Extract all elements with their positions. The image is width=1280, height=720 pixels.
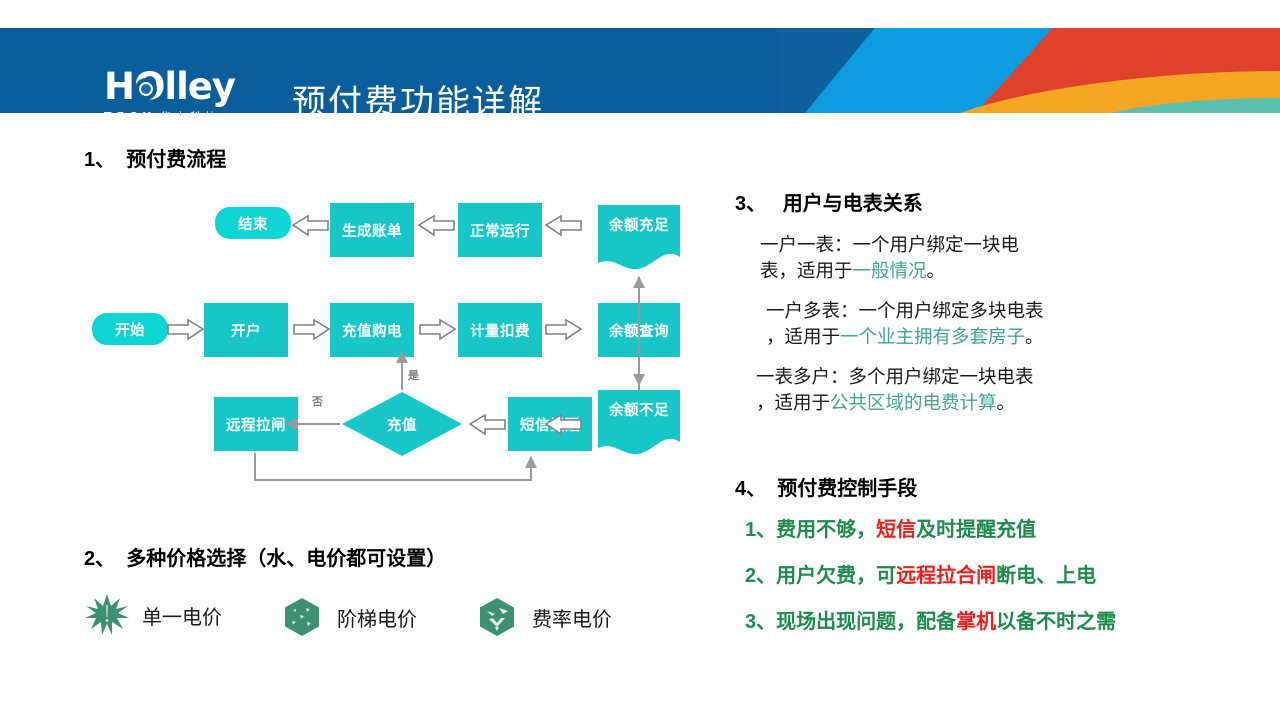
hexagon-steps-icon (279, 594, 325, 640)
relation-2-highlight: 一个业主拥有多套房子 (840, 326, 1025, 347)
relation-1-mid: 表，适用于 (760, 260, 853, 281)
section-4-title: 预付费控制手段 (777, 478, 917, 500)
relation-3-head: 一表多户：多个用户绑定一块电表 (756, 366, 1034, 387)
control-3-highlight: 掌机 (956, 611, 996, 633)
logo-subtitle: TECH 华立科技 (104, 109, 264, 113)
page-title: 预付费功能详解 (292, 75, 544, 113)
holley-logo: HOlley TECH 华立科技 (104, 68, 264, 113)
section-2-number: 2、 (84, 548, 115, 570)
logo-tech-text: TECH (104, 110, 156, 113)
control-1-highlight: 短信 (876, 519, 916, 541)
control-2-highlight: 远程拉合闸 (896, 565, 996, 587)
section-4-heading: 4、 预付费控制手段 (735, 472, 917, 501)
control-item-3: 3、现场出现问题，配备掌机以备不时之需 (745, 610, 1215, 634)
flow-node-recharge-decision-label: 充值 (342, 392, 462, 456)
user-meter-relations-list: 一户一表：一个用户绑定一块电 表，适用于一般情况。 一户多表：一个用户绑定多块电… (760, 232, 1210, 430)
logo-chinese-text: 华立科技 (160, 109, 220, 113)
control-item-1: 1、费用不够，短信及时提醒充值 (745, 518, 1215, 542)
relation-3-highlight: 公共区域的电费计算 (830, 392, 997, 413)
flow-node-balance-insufficient[interactable]: 余额不足 (598, 390, 680, 454)
relation-2-mid: ，适用于 (766, 326, 840, 347)
logo-wordmark: HOlley (104, 68, 264, 106)
flow-node-balance-sufficient[interactable]: 余额充足 (598, 205, 680, 269)
section-3-title: 用户与电表关系 (783, 193, 923, 215)
control-2-text-a: 用户欠费，可 (776, 565, 896, 587)
header-decorative-swoosh (780, 28, 1280, 113)
relation-item-many-to-one: 一表多户：多个用户绑定一块电表 ，适用于公共区域的电费计算。 (756, 364, 1210, 416)
price-option-rate[interactable]: 费率电价 (474, 594, 612, 640)
control-2-number: 2、 (745, 565, 776, 587)
hexagon-rate-icon (474, 594, 520, 640)
control-2-text-b: 断电、上电 (996, 565, 1096, 587)
price-option-tiered-label: 阶梯电价 (337, 603, 417, 632)
starburst-icon (84, 592, 130, 638)
relation-1-tail: 。 (927, 260, 946, 281)
relation-3-mid: ，适用于 (756, 392, 830, 413)
control-3-number: 3、 (745, 611, 776, 633)
price-options-row: 单一电价 阶梯电价 费率电价 (84, 592, 684, 652)
relation-item-one-to-many: 一户多表：一个用户绑定多块电表 ，适用于一个业主拥有多套房子。 (766, 298, 1210, 350)
control-3-text-b: 以备不时之需 (996, 611, 1116, 633)
section-4-number: 4、 (735, 478, 766, 500)
price-option-single-label: 单一电价 (142, 601, 222, 630)
section-2-title: 多种价格选择（水、电价都可设置） (126, 548, 446, 570)
section-2-heading: 2、 多种价格选择（水、电价都可设置） (84, 542, 446, 571)
price-option-single[interactable]: 单一电价 (84, 592, 222, 638)
header-band: HOlley TECH 华立科技 预付费功能详解 (0, 28, 1280, 113)
flow-node-recharge-decision[interactable]: 充值 (342, 392, 462, 456)
control-1-text-a: 费用不够， (776, 519, 876, 541)
section-1-title: 预付费流程 (126, 149, 226, 171)
control-item-2: 2、用户欠费，可远程拉合闸断电、上电 (745, 564, 1215, 588)
relation-1-head: 一户一表：一个用户绑定一块电 (760, 234, 1019, 255)
section-1-heading: 1、 预付费流程 (84, 143, 226, 172)
section-3-number: 3、 (735, 193, 766, 215)
relation-2-tail: 。 (1025, 326, 1044, 347)
relation-2-head: 一户多表：一个用户绑定多块电表 (766, 300, 1044, 321)
relation-1-highlight: 一般情况 (853, 260, 927, 281)
relation-item-one-to-one: 一户一表：一个用户绑定一块电 表，适用于一般情况。 (760, 232, 1210, 284)
section-1-number: 1、 (84, 149, 115, 171)
section-3-heading: 3、 用户与电表关系 (735, 187, 923, 216)
prepaid-control-measures-list: 1、费用不够，短信及时提醒充值 2、用户欠费，可远程拉合闸断电、上电 3、现场出… (745, 518, 1215, 656)
prepaid-process-flowchart: 结束 生成账单 正常运行 余额充足 开始 开户 充值购电 计量扣费 余额查询 远… (80, 185, 700, 490)
price-option-rate-label: 费率电价 (532, 603, 612, 632)
relation-3-tail: 。 (997, 392, 1016, 413)
logo-o-ring-icon (135, 78, 157, 100)
price-option-tiered[interactable]: 阶梯电价 (279, 594, 417, 640)
flow-node-balance-sufficient-label: 余额充足 (598, 205, 680, 269)
control-3-text-a: 现场出现问题，配备 (776, 611, 956, 633)
control-1-number: 1、 (745, 519, 776, 541)
flow-node-balance-insufficient-label: 余额不足 (598, 390, 680, 454)
control-1-text-b: 及时提醒充值 (916, 519, 1036, 541)
